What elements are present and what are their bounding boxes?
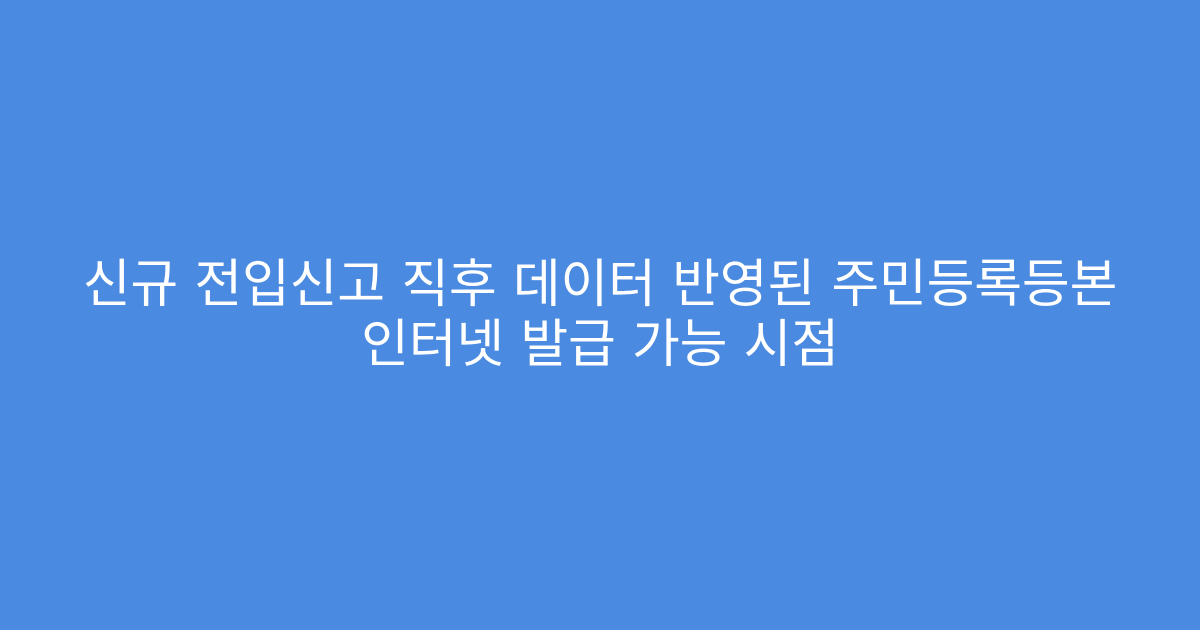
title-block: 신규 전입신고 직후 데이터 반영된 주민등록등본 인터넷 발급 가능 시점 [0, 255, 1200, 375]
og-title-card: 신규 전입신고 직후 데이터 반영된 주민등록등본 인터넷 발급 가능 시점 [0, 0, 1200, 630]
page-title: 신규 전입신고 직후 데이터 반영된 주민등록등본 인터넷 발급 가능 시점 [70, 255, 1130, 375]
